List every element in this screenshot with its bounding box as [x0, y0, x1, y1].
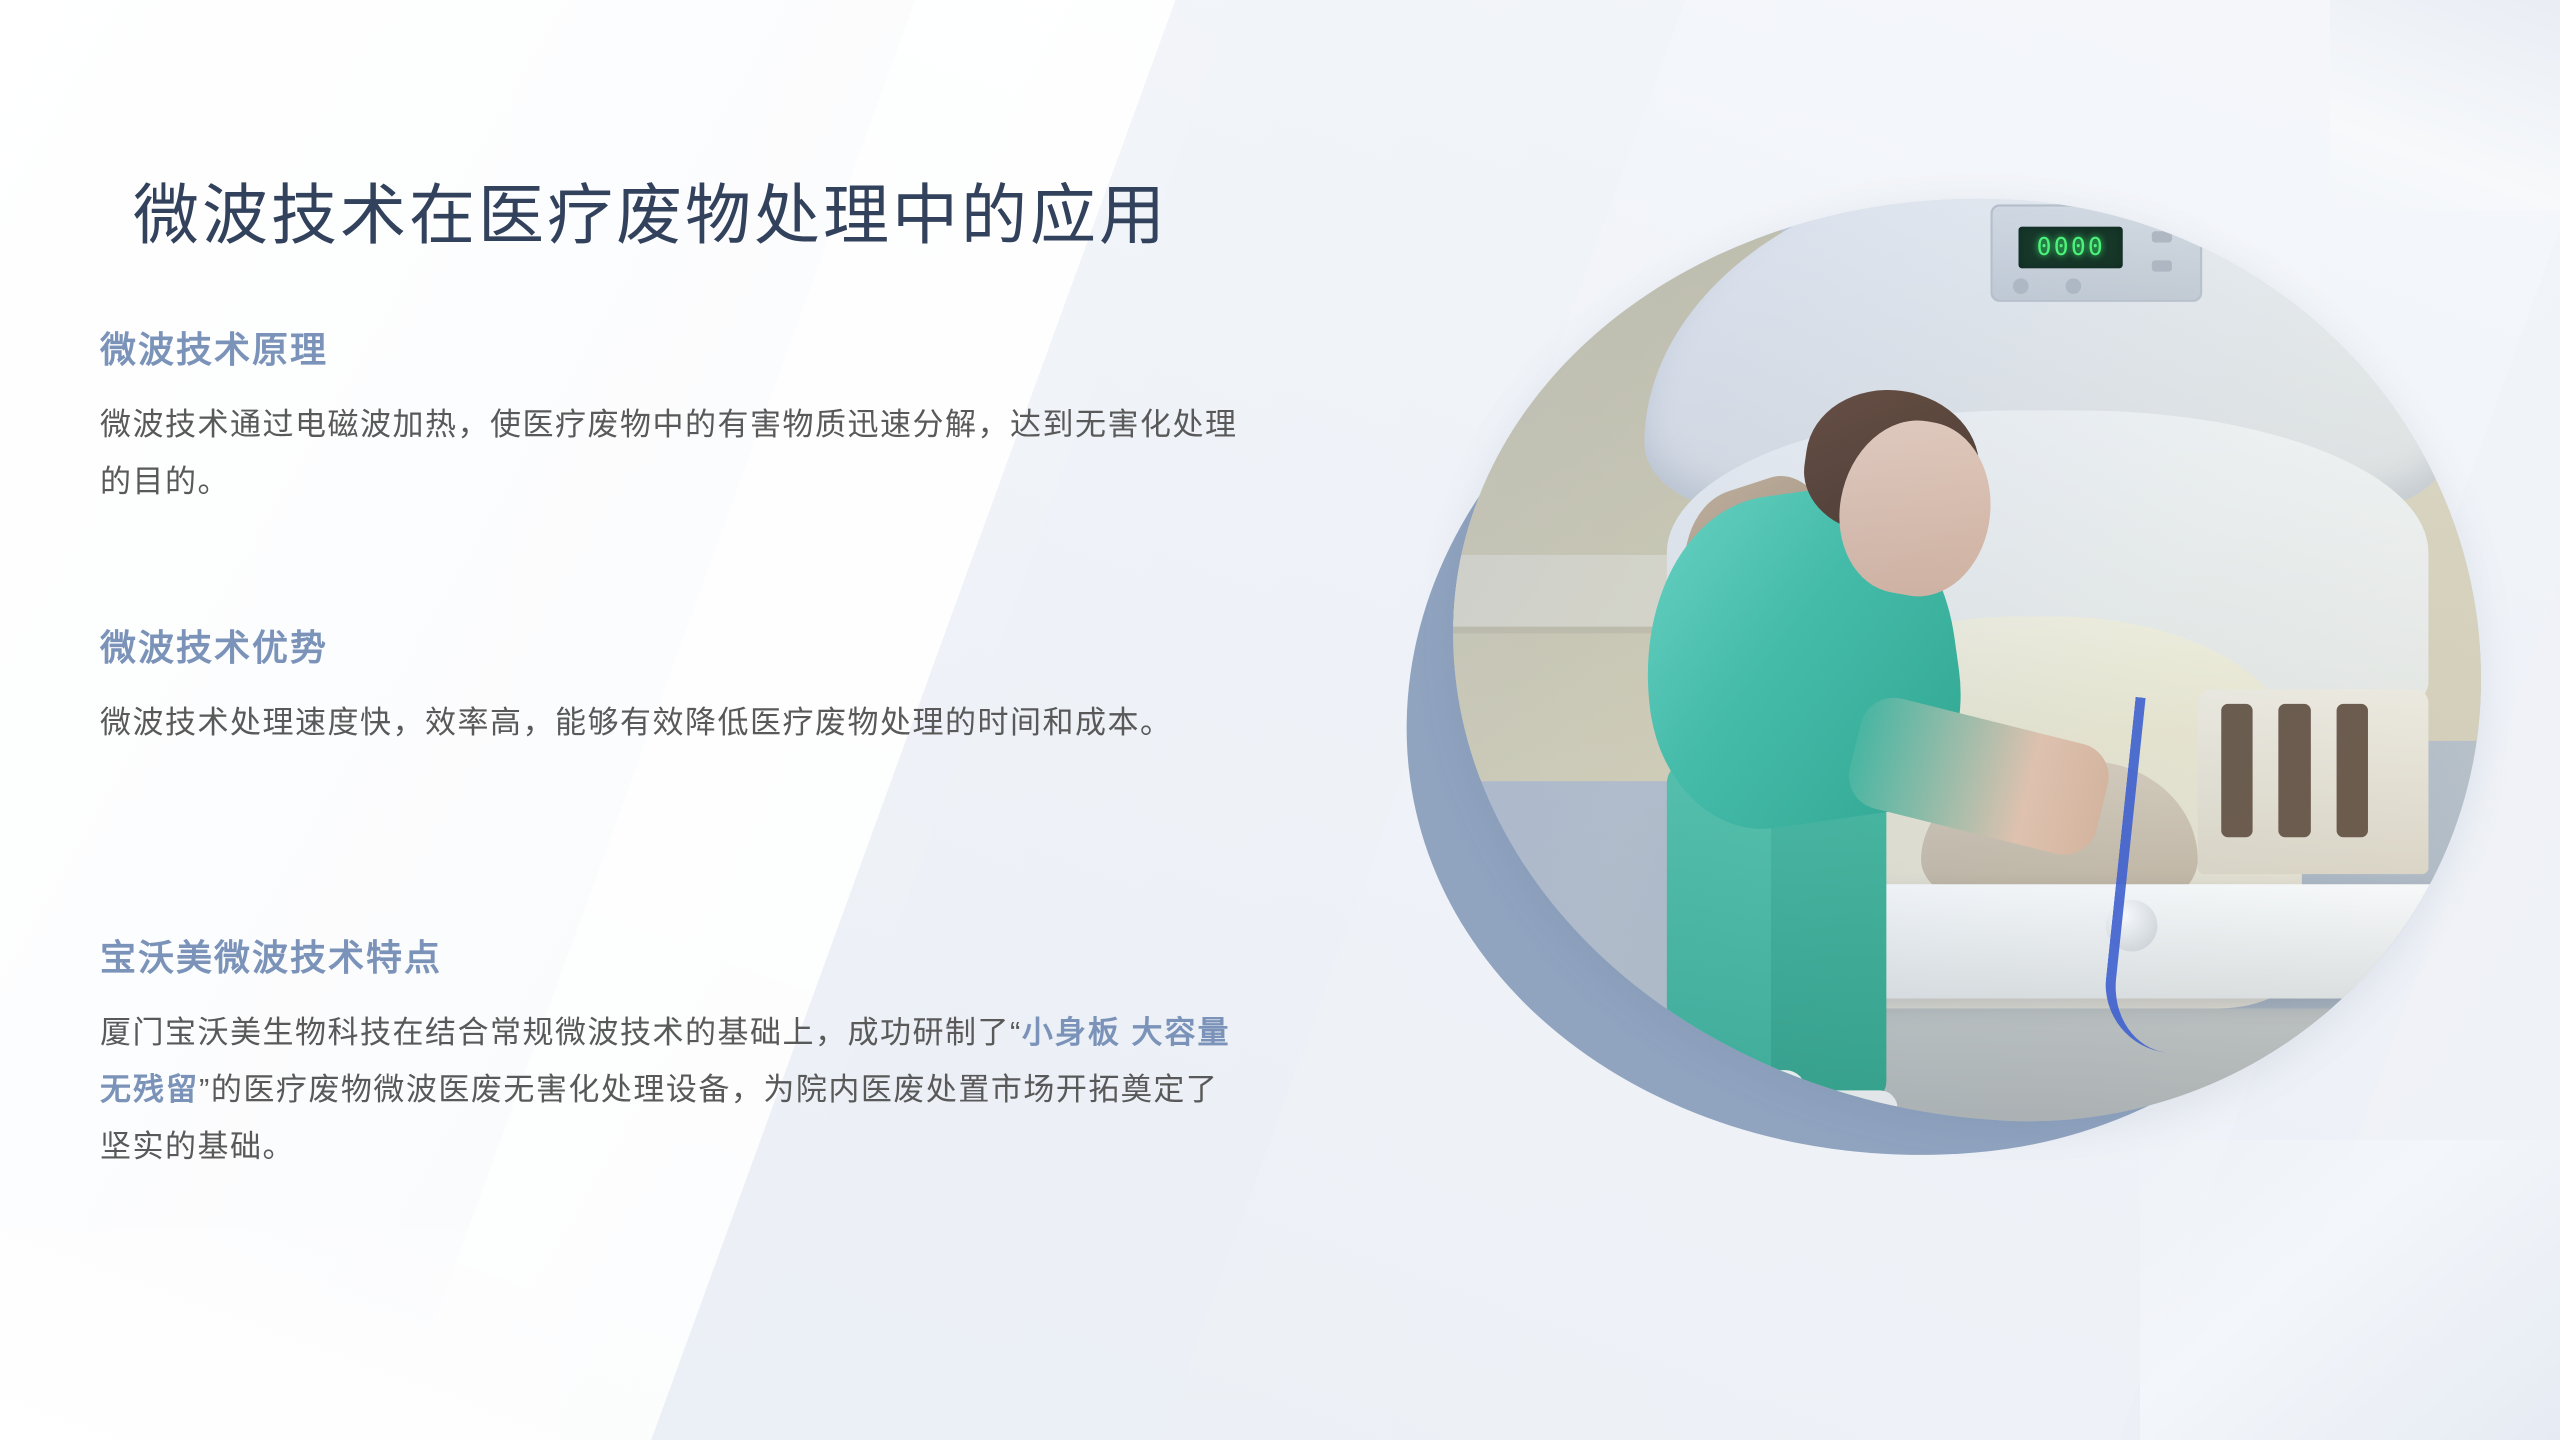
corner-accent-top-right [2330, 0, 2560, 210]
quote-close: ” [199, 1072, 211, 1107]
photo-color-cast [1429, 172, 2506, 1145]
section-microwave-advantages: 微波技术优势 微波技术处理速度快，效率高，能够有效降低医疗废物处理的时间和成本。 [100, 628, 1260, 751]
corner-accent-bottom-right [2140, 1140, 2560, 1440]
text-column: 微波技术在医疗废物处理中的应用 微波技术原理 微波技术通过电磁波加热，使医疗废物… [0, 0, 1300, 1440]
photo-area: 0000 [1380, 180, 2500, 1180]
slide-canvas: 0000 [0, 0, 2560, 1440]
photo-image: 0000 [1429, 172, 2506, 1145]
section-body: 厦门宝沃美生物科技在结合常规微波技术的基础上，成功研制了“小身板 大容量 无残留… [100, 1004, 1240, 1176]
page-title: 微波技术在医疗废物处理中的应用 [133, 162, 1168, 258]
section-heading: 微波技术优势 [100, 628, 1260, 668]
section-baowomei-features: 宝沃美微波技术特点 厦门宝沃美生物科技在结合常规微波技术的基础上，成功研制了“小… [100, 938, 1260, 1176]
section-microwave-principle: 微波技术原理 微波技术通过电磁波加热，使医疗废物中的有害物质迅速分解，达到无害化… [100, 330, 1260, 510]
quote-open: “ [1010, 1015, 1022, 1050]
body-text-post: 的医疗废物微波医废无害化处理设备，为院内医废处置市场开拓奠定了坚实的基础。 [100, 1072, 1218, 1164]
section-body: 微波技术处理速度快，效率高，能够有效降低医疗废物处理的时间和成本。 [100, 694, 1240, 751]
section-heading: 微波技术原理 [100, 330, 1260, 370]
body-text-pre: 厦门宝沃美生物科技在结合常规微波技术的基础上，成功研制了 [100, 1015, 1010, 1050]
section-body: 微波技术通过电磁波加热，使医疗废物中的有害物质迅速分解，达到无害化处理的目的。 [100, 396, 1240, 511]
photo-blob-mask: 0000 [1429, 172, 2506, 1145]
section-heading: 宝沃美微波技术特点 [100, 938, 1260, 978]
